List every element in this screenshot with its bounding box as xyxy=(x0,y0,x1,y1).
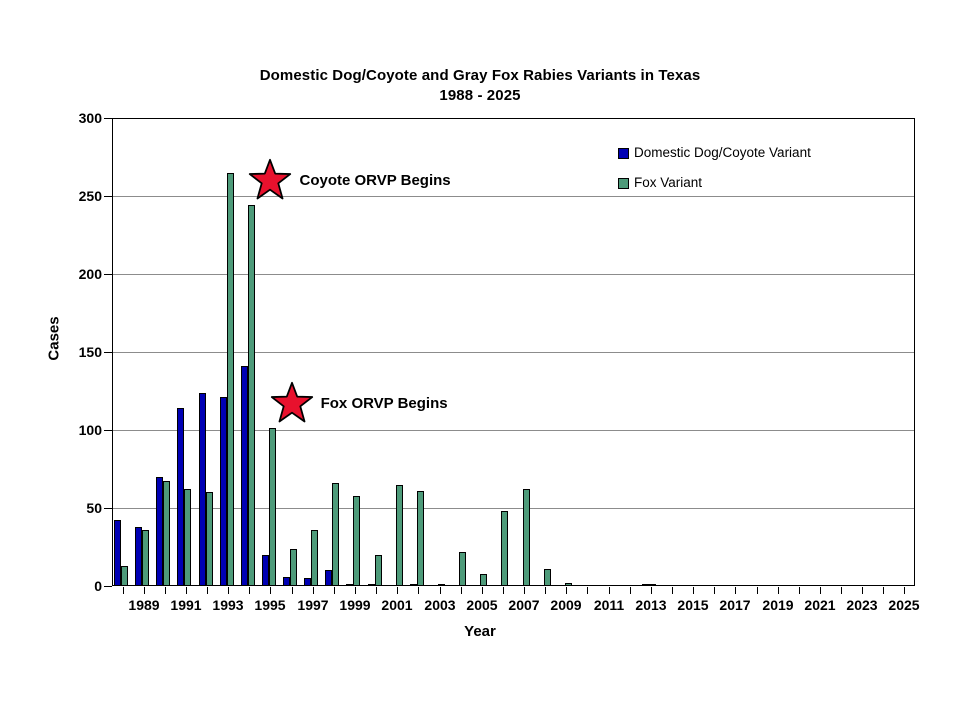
x-tick-mark xyxy=(461,587,462,594)
bar xyxy=(121,566,128,586)
x-tick-mark xyxy=(397,587,398,594)
bar xyxy=(227,173,234,586)
bar xyxy=(311,530,318,586)
x-tick-mark xyxy=(609,587,610,594)
red-star-icon xyxy=(270,381,314,425)
bar xyxy=(410,584,417,586)
x-tick-mark xyxy=(524,587,525,594)
x-tick-mark xyxy=(545,587,546,594)
x-tick-mark xyxy=(292,587,293,594)
chart-legend: Domestic Dog/Coyote Variant Fox Variant xyxy=(618,138,811,198)
x-tick-mark xyxy=(165,587,166,594)
bar xyxy=(375,555,382,586)
bar xyxy=(332,483,339,586)
x-tick-mark xyxy=(123,587,124,594)
bar xyxy=(163,481,170,586)
bar xyxy=(199,393,206,586)
legend-item-fox: Fox Variant xyxy=(618,168,811,198)
bar xyxy=(480,574,487,586)
bar xyxy=(114,520,121,586)
annotation-coyote-orvp-label: Coyote ORVP Begins xyxy=(299,172,450,189)
bar xyxy=(135,527,142,586)
legend-label-fox: Fox Variant xyxy=(634,176,702,190)
x-tick-mark xyxy=(249,587,250,594)
x-tick-mark xyxy=(566,587,567,594)
red-star-icon xyxy=(248,158,292,202)
bar xyxy=(177,408,184,586)
bar xyxy=(269,428,276,586)
x-tick-label: 2025 xyxy=(874,597,934,613)
bar xyxy=(206,492,213,586)
x-tick-mark xyxy=(144,587,145,594)
bar xyxy=(304,578,311,586)
legend-label-dog-coyote: Domestic Dog/Coyote Variant xyxy=(634,146,811,160)
bar xyxy=(565,583,572,586)
bar xyxy=(262,555,269,586)
bar xyxy=(283,577,290,586)
bar xyxy=(325,570,332,586)
x-tick-mark xyxy=(841,587,842,594)
x-tick-mark xyxy=(270,587,271,594)
chart-canvas: Domestic Dog/Coyote and Gray Fox Rabies … xyxy=(0,0,960,720)
x-tick-mark xyxy=(186,587,187,594)
x-tick-mark xyxy=(503,587,504,594)
bar xyxy=(396,485,403,586)
bar xyxy=(501,511,508,586)
bar xyxy=(248,205,255,586)
legend-item-dog-coyote: Domestic Dog/Coyote Variant xyxy=(618,138,811,168)
annotation-fox-orvp-label: Fox ORVP Begins xyxy=(321,395,448,412)
x-tick-mark xyxy=(820,587,821,594)
bar xyxy=(459,552,466,586)
x-tick-mark xyxy=(440,587,441,594)
x-tick-mark xyxy=(904,587,905,594)
bar xyxy=(346,584,353,586)
legend-swatch-fox xyxy=(618,178,629,189)
x-tick-mark xyxy=(228,587,229,594)
x-tick-mark xyxy=(714,587,715,594)
x-tick-mark xyxy=(587,587,588,594)
x-tick-mark xyxy=(862,587,863,594)
bar xyxy=(523,489,530,586)
x-tick-mark xyxy=(651,587,652,594)
bar xyxy=(368,584,375,586)
x-tick-mark xyxy=(778,587,779,594)
x-tick-mark xyxy=(693,587,694,594)
x-tick-mark xyxy=(482,587,483,594)
x-tick-mark xyxy=(735,587,736,594)
legend-swatch-dog-coyote xyxy=(618,148,629,159)
bar xyxy=(220,397,227,586)
x-tick-mark xyxy=(799,587,800,594)
bar xyxy=(142,530,149,586)
x-axis-title: Year xyxy=(0,623,960,640)
x-tick-mark xyxy=(207,587,208,594)
bar xyxy=(241,366,248,586)
bar xyxy=(156,477,163,586)
x-tick-mark xyxy=(672,587,673,594)
annotation-fox-orvp: Fox ORVP Begins xyxy=(270,381,448,425)
x-tick-mark xyxy=(376,587,377,594)
x-tick-mark xyxy=(630,587,631,594)
x-tick-mark xyxy=(418,587,419,594)
bar xyxy=(417,491,424,586)
bar xyxy=(544,569,551,586)
x-tick-mark xyxy=(313,587,314,594)
x-tick-mark xyxy=(883,587,884,594)
x-tick-mark xyxy=(355,587,356,594)
annotation-coyote-orvp: Coyote ORVP Begins xyxy=(248,158,450,202)
bar xyxy=(290,549,297,586)
bar xyxy=(642,584,649,586)
x-tick-mark xyxy=(757,587,758,594)
bar xyxy=(184,489,191,586)
x-tick-mark xyxy=(334,587,335,594)
bar xyxy=(353,496,360,586)
